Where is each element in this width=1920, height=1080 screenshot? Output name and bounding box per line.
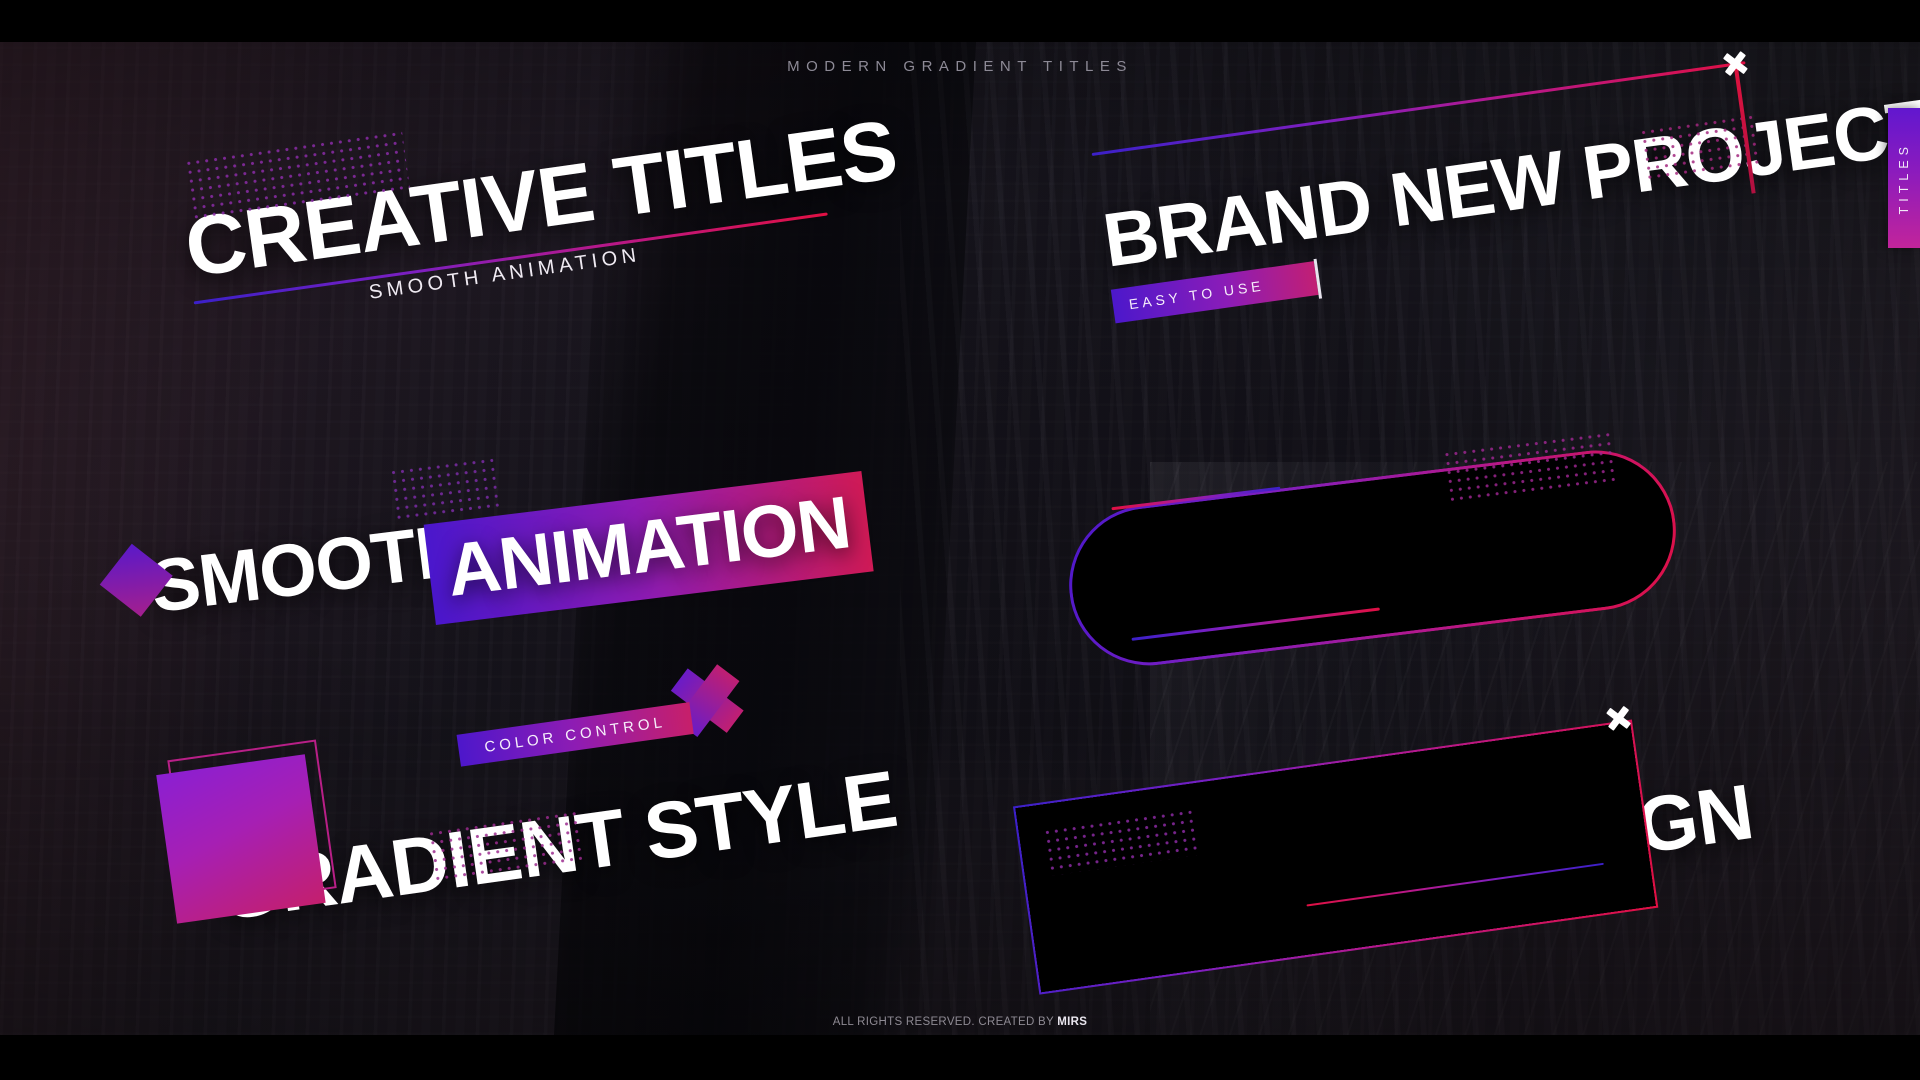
gradient-square <box>156 754 325 923</box>
footer-prefix: ALL RIGHTS RESERVED. CREATED BY <box>833 1016 1058 1028</box>
letterbox-top <box>0 0 1920 42</box>
title-pack-preview: MODERN GRADIENT TITLES TITLES CREATIVE T… <box>0 0 1920 1080</box>
page-title: MODERN GRADIENT TITLES <box>0 58 1920 75</box>
footer-credit: ALL RIGHTS RESERVED. CREATED BY MIRS <box>0 1016 1920 1028</box>
side-tab-titles[interactable]: TITLES <box>1888 108 1920 248</box>
letterbox-bottom <box>0 1035 1920 1080</box>
close-icon[interactable] <box>1604 704 1633 733</box>
footer-author: MIRS <box>1057 1016 1087 1028</box>
side-tab-label: TITLES <box>1897 142 1911 214</box>
